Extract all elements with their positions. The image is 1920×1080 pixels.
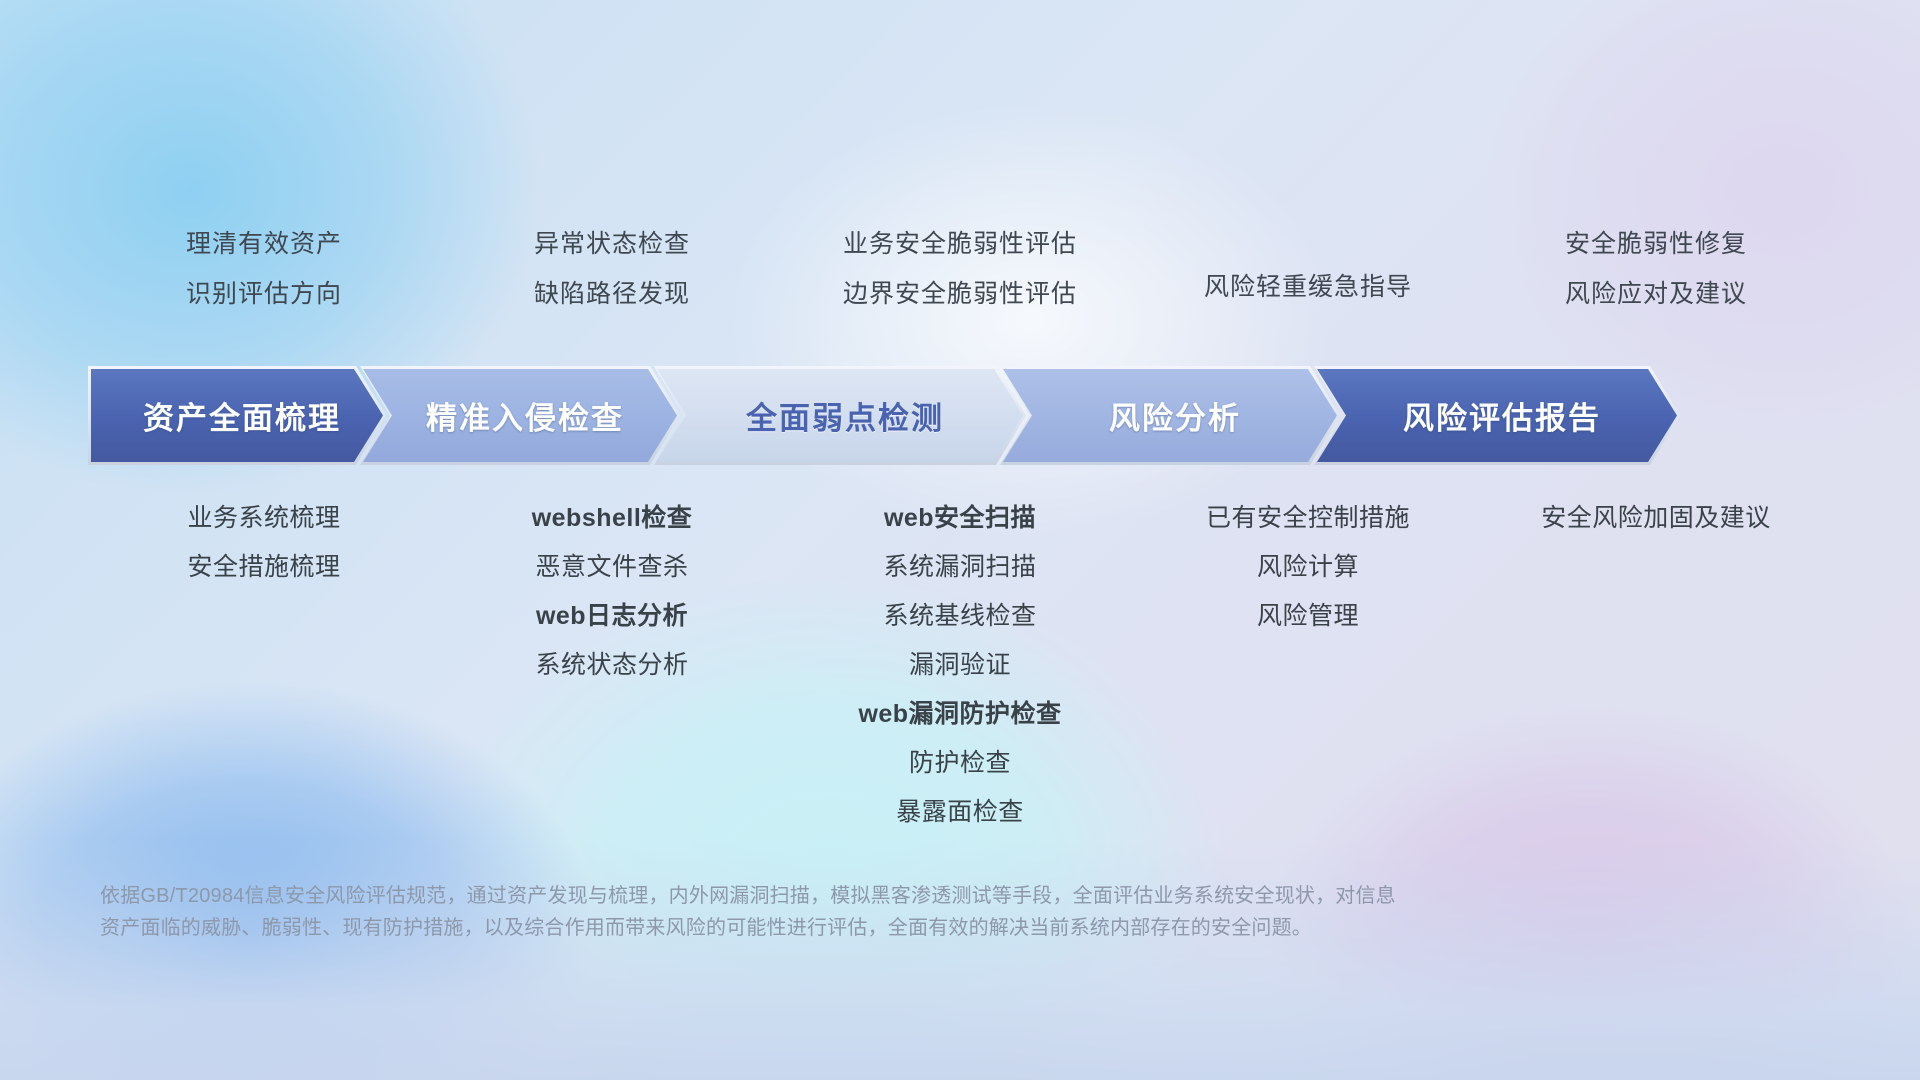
top-annotation-row: 理清有效资产 识别评估方向 异常状态检查 缺陷路径发现 业务安全脆弱性评估 边界… — [90, 232, 1830, 342]
bottom-column-1: 业务系统梳理 安全措施梳理 — [90, 506, 438, 604]
top-label: 风险应对及建议 — [1565, 282, 1747, 307]
stage-label-1: 资产全面梳理 — [133, 393, 341, 438]
list-item: 漏洞验证 — [909, 653, 1011, 678]
stage-arrow-1[interactable]: 资产全面梳理 — [88, 366, 386, 465]
list-item: 风险管理 — [1257, 604, 1359, 629]
bottom-column-2: webshell检查 恶意文件查杀 web日志分析 系统状态分析 — [438, 506, 786, 702]
top-label: 缺陷路径发现 — [534, 282, 690, 307]
footer-description: 依据GB/T20984信息安全风险评估规范，通过资产发现与梳理，内外网漏洞扫描，… — [100, 880, 1620, 945]
top-label: 边界安全脆弱性评估 — [843, 282, 1077, 307]
stage-arrow-5[interactable]: 风险评估报告 — [1314, 366, 1680, 465]
list-item: 业务系统梳理 — [187, 506, 340, 531]
top-column-4: 风险轻重缓急指导 — [1134, 232, 1482, 342]
list-item: 系统状态分析 — [535, 653, 688, 678]
bottom-column-5: 安全风险加固及建议 — [1482, 506, 1830, 555]
list-item: 安全风险加固及建议 — [1541, 506, 1771, 531]
list-item: 安全措施梳理 — [187, 555, 340, 580]
stage-label-2: 精准入侵检查 — [416, 393, 624, 438]
list-item: 系统漏洞扫描 — [883, 555, 1036, 580]
stage-label-5: 风险评估报告 — [1393, 393, 1601, 438]
list-item: 风险计算 — [1257, 555, 1359, 580]
bottom-column-4: 已有安全控制措施 风险计算 风险管理 — [1134, 506, 1482, 653]
stage-arrow-2[interactable]: 精准入侵检查 — [360, 366, 680, 465]
stage-arrow-4[interactable]: 风险分析 — [1000, 366, 1340, 465]
diagram-content: 理清有效资产 识别评估方向 异常状态检查 缺陷路径发现 业务安全脆弱性评估 边界… — [0, 0, 1920, 1080]
list-item: 已有安全控制措施 — [1206, 506, 1410, 531]
stage-label-3: 全面弱点检测 — [736, 393, 944, 438]
top-column-2: 异常状态检查 缺陷路径发现 — [438, 232, 786, 342]
footer-line-1: 依据GB/T20984信息安全风险评估规范，通过资产发现与梳理，内外网漏洞扫描，… — [100, 880, 1620, 912]
bottom-detail-row: 业务系统梳理 安全措施梳理 webshell检查 恶意文件查杀 web日志分析 … — [90, 506, 1830, 849]
bottom-column-3: web安全扫描 系统漏洞扫描 系统基线检查 漏洞验证 web漏洞防护检查 防护检… — [786, 506, 1134, 849]
top-column-1: 理清有效资产 识别评估方向 — [90, 232, 438, 342]
top-column-3: 业务安全脆弱性评估 边界安全脆弱性评估 — [786, 232, 1134, 342]
top-label: 异常状态检查 — [534, 232, 690, 257]
top-column-5: 安全脆弱性修复 风险应对及建议 — [1482, 232, 1830, 342]
top-label: 安全脆弱性修复 — [1565, 232, 1747, 257]
list-item: 防护检查 — [909, 751, 1011, 776]
top-label: 风险轻重缓急指导 — [1204, 275, 1412, 300]
stage-label-4: 风险分析 — [1099, 393, 1241, 438]
footer-line-2: 资产面临的威胁、脆弱性、现有防护措施，以及综合作用而带来风险的可能性进行评估，全… — [100, 912, 1620, 944]
top-label: 识别评估方向 — [186, 282, 342, 307]
list-item: webshell检查 — [532, 506, 693, 531]
process-arrow-band: 资产全面梳理 精准入侵检查 全面弱点检测 风险分析 — [88, 366, 1832, 465]
list-item: web安全扫描 — [884, 506, 1036, 531]
top-label: 理清有效资产 — [186, 232, 342, 257]
list-item: 恶意文件查杀 — [535, 555, 688, 580]
list-item: web日志分析 — [536, 604, 688, 629]
list-item: 暴露面检查 — [896, 800, 1024, 825]
list-item: 系统基线检查 — [883, 604, 1036, 629]
stage-arrow-3[interactable]: 全面弱点检测 — [654, 366, 1026, 465]
top-label: 业务安全脆弱性评估 — [843, 232, 1077, 257]
list-item: web漏洞防护检查 — [858, 702, 1061, 727]
